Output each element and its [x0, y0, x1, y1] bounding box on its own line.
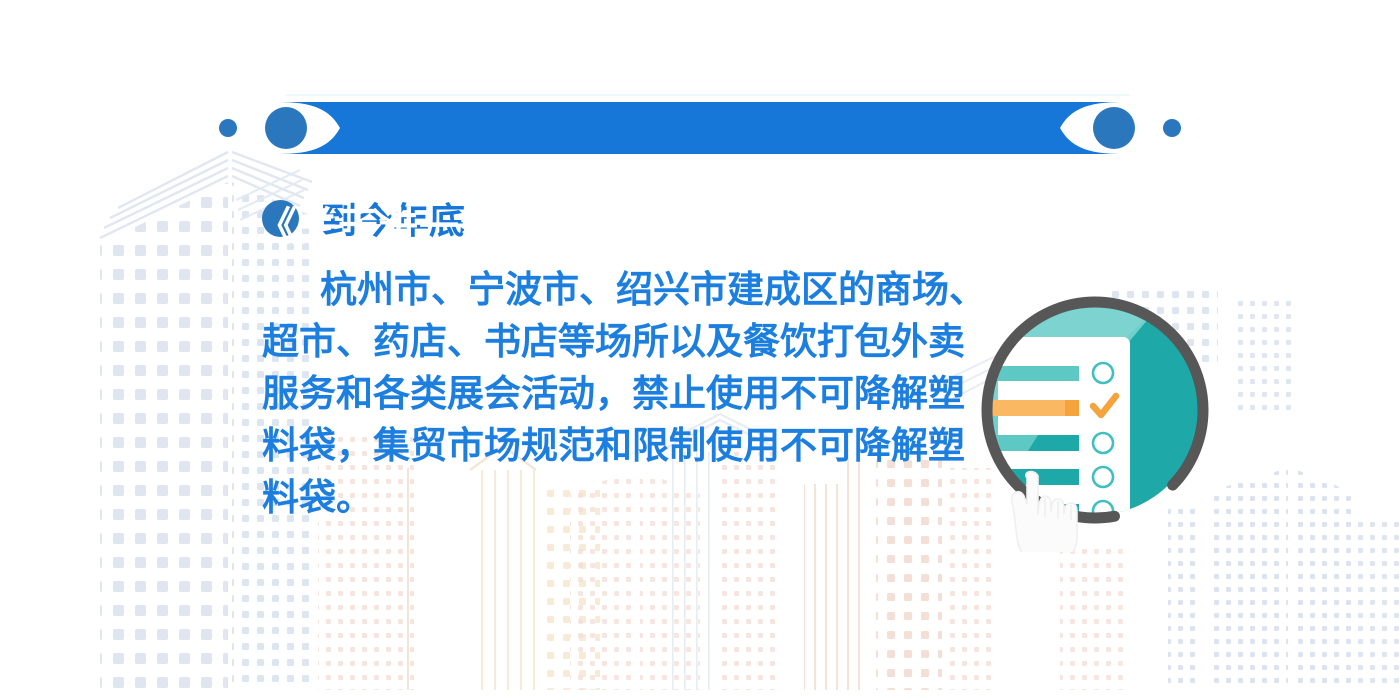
poster-canvas: 《关于进一步加强塑料污染治理的实施办法》 到今年底 杭州市、宁波市、绍兴市建成区…: [0, 0, 1400, 700]
checklist-circle-illustration: [960, 282, 1230, 552]
decorative-circle-right-fill: [1093, 107, 1135, 149]
title-banner-row: 《关于进一步加强塑料污染治理的实施办法》: [0, 96, 1400, 158]
title-banner-shape: [210, 90, 1190, 166]
checklist-row-bar-fold: [1065, 400, 1079, 416]
body-line: 料袋，集贸市场规范和限制使用不可降解塑: [262, 420, 972, 472]
body-line: 超市、药店、书店等场所以及餐饮打包外卖: [262, 316, 972, 368]
body-line: 杭州市、宁波市、绍兴市建成区的商场、: [262, 264, 972, 316]
page-title: 《关于进一步加强塑料污染治理的实施办法》: [262, 192, 1062, 254]
body-line: 料袋。: [262, 472, 972, 524]
decorative-dot-left: [219, 119, 237, 137]
decorative-circle-left-fill: [265, 107, 307, 149]
body-paragraph: 杭州市、宁波市、绍兴市建成区的商场、 超市、药店、书店等场所以及餐饮打包外卖 服…: [262, 264, 972, 524]
body-line: 服务和各类展会活动，禁止使用不可降解塑: [262, 368, 972, 420]
decorative-dot-right: [1163, 119, 1181, 137]
banner-body: [278, 102, 1122, 154]
